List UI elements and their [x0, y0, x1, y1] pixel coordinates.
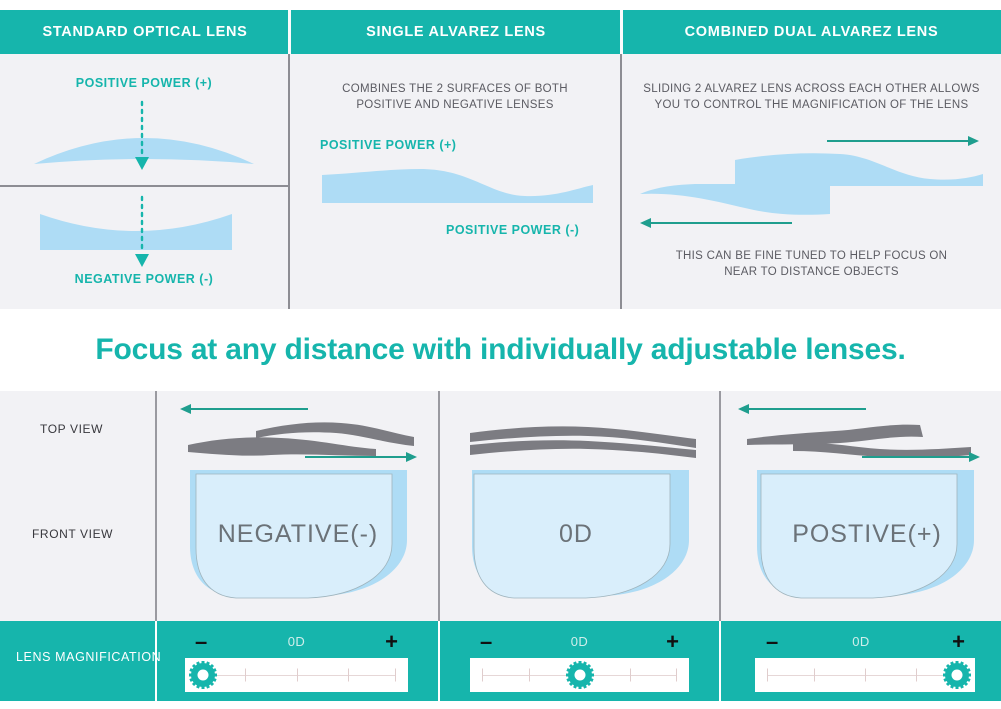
col1-positive-power-label: POSITIVE POWER (+) — [0, 76, 288, 90]
slider-a-knob[interactable] — [188, 660, 218, 690]
col2-positive-power-label: POSITIVE POWER (+) — [320, 138, 456, 152]
panelC-top-right-arrow-icon — [862, 452, 980, 462]
panelA-lens-text: NEGATIVE(-) — [218, 520, 379, 548]
header-cell-single-alvarez-lens: SINGLE ALVAREZ LENS — [290, 10, 622, 54]
col1-negative-power-label: NEGATIVE POWER (-) — [0, 272, 288, 286]
lens-magnification-label: LENS MAGNIFICATION — [16, 650, 161, 664]
slide-right-arrow-icon — [827, 136, 979, 146]
slider-group-a: – 0D + — [155, 621, 438, 701]
infographic-page: STANDARD OPTICAL LENS SINGLE ALVAREZ LEN… — [0, 0, 1001, 709]
slider-a-minus-button[interactable]: – — [195, 631, 207, 653]
col3-caption-line2: YOU TO CONTROL THE MAGNIFICATION OF THE … — [622, 97, 1001, 114]
panelC-frontview-lens: POSTIVE(+) — [745, 466, 975, 601]
slider-group-b: – 0D + — [440, 621, 719, 701]
focus-arrow-convex-icon — [130, 100, 154, 180]
panelC-top-left-arrow-icon — [738, 404, 866, 414]
col2-negative-power-label: POSITIVE POWER (-) — [446, 223, 579, 237]
col3-footer-line1: THIS CAN BE FINE TUNED TO HELP FOCUS ON — [622, 248, 1001, 265]
col3-footer-line2: NEAR TO DISTANCE OBJECTS — [622, 264, 1001, 281]
col2-caption-line1: COMBINES THE 2 SURFACES OF BOTH — [290, 81, 620, 98]
bottom-divider-1 — [438, 391, 440, 621]
top-view-label: TOP VIEW — [40, 422, 103, 436]
headline-text: Focus at any distance with individually … — [95, 333, 905, 367]
column1-horizontal-divider — [0, 185, 288, 187]
header-cell-standard-optical-lens: STANDARD OPTICAL LENS — [0, 10, 290, 54]
panelA-top-left-arrow-icon — [180, 404, 308, 414]
slider-b-plus-button[interactable]: + — [666, 631, 679, 653]
col2-caption-line2: POSITIVE AND NEGATIVE LENSES — [290, 97, 620, 114]
panelB-lens-text: 0D — [559, 520, 593, 548]
slider-c-knob[interactable] — [942, 660, 972, 690]
slider-b-knob[interactable] — [565, 660, 595, 690]
slider-a-track[interactable] — [185, 658, 408, 692]
slider-c-plus-button[interactable]: + — [952, 631, 965, 653]
panelB-frontview-lens: 0D — [468, 466, 693, 601]
slider-c-minus-button[interactable]: – — [766, 631, 778, 653]
slider-group-c: – 0D + — [721, 621, 1001, 701]
headline-banner: Focus at any distance with individually … — [0, 309, 1001, 391]
panelA-top-right-arrow-icon — [305, 452, 417, 462]
bottom-divider-0 — [155, 391, 157, 621]
slider-c-track[interactable] — [755, 658, 975, 692]
header-label-2: SINGLE ALVAREZ LENS — [366, 24, 546, 40]
slider-b-zero-label: 0D — [571, 634, 589, 649]
panelA-frontview-lens: NEGATIVE(-) — [186, 466, 411, 601]
header-divider-2 — [620, 10, 623, 54]
header-label-1: STANDARD OPTICAL LENS — [42, 24, 247, 40]
focus-arrow-concave-icon — [130, 195, 154, 277]
slider-a-plus-button[interactable]: + — [385, 631, 398, 653]
dual-alvarez-lens-lower — [640, 180, 890, 220]
header-bar: STANDARD OPTICAL LENS SINGLE ALVAREZ LEN… — [0, 10, 1001, 54]
bottom-divider-2 — [719, 391, 721, 621]
slider-b-track[interactable] — [470, 658, 689, 692]
slider-c-zero-label: 0D — [852, 634, 870, 649]
header-cell-combined-dual-alvarez-lens: COMBINED DUAL ALVAREZ LENS — [622, 10, 1001, 54]
slide-left-arrow-icon — [640, 218, 792, 228]
header-label-3: COMBINED DUAL ALVAREZ LENS — [685, 24, 939, 40]
col3-caption-line1: SLIDING 2 ALVAREZ LENS ACROSS EACH OTHER… — [622, 81, 1001, 98]
panelC-lens-text: POSTIVE(+) — [792, 520, 942, 548]
alvarez-single-lens-shape — [320, 163, 595, 205]
front-view-label: FRONT VIEW — [32, 527, 113, 541]
slider-a-zero-label: 0D — [288, 634, 306, 649]
header-divider-1 — [288, 10, 291, 54]
slider-b-minus-button[interactable]: – — [480, 631, 492, 653]
panelB-topview-lenses — [468, 421, 698, 463]
